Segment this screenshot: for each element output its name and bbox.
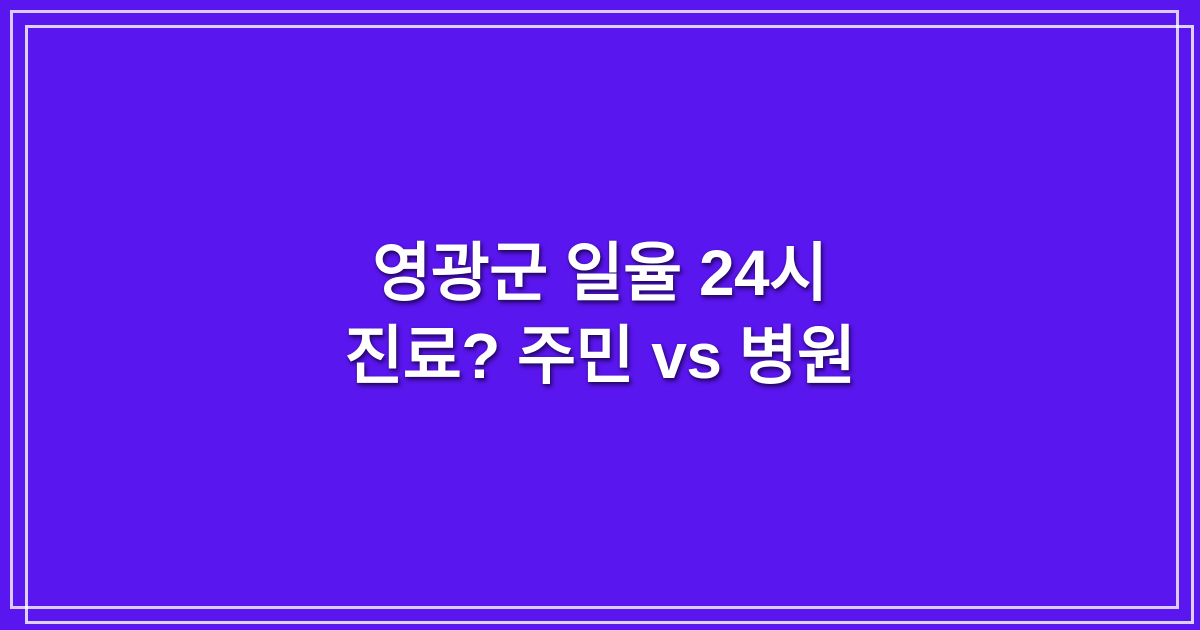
page-title: 영광군 일율 24시 진료? 주민 vs 병원 bbox=[130, 233, 1070, 396]
thumbnail-card: 영광군 일율 24시 진료? 주민 vs 병원 bbox=[0, 0, 1200, 630]
headline-container: 영광군 일율 24시 진료? 주민 vs 병원 bbox=[0, 0, 1200, 630]
headline-line-2: 진료? 주민 vs 병원 bbox=[130, 316, 1070, 397]
headline-line-1: 영광군 일율 24시 bbox=[130, 233, 1070, 314]
